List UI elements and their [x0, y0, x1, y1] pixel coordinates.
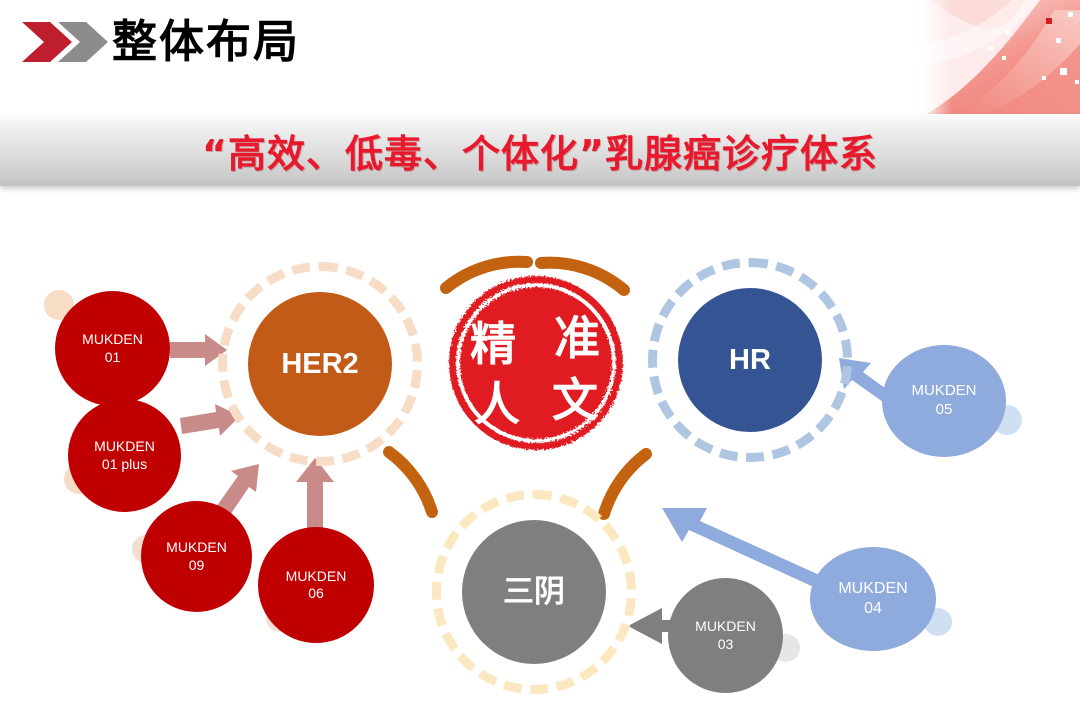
node-mukden-06-line2: 06 — [308, 585, 324, 603]
node-mukden-06-line1: MUKDEN — [286, 568, 347, 586]
slide-root: 整体布局 — [0, 0, 1080, 725]
arc-bottom-left — [389, 452, 432, 512]
node-mukden-01-line2: 01 — [105, 349, 121, 367]
node-mukden-01-plus[interactable]: MUKDEN 01 plus — [68, 399, 181, 512]
node-mukden-04-line1: MUKDEN — [838, 579, 907, 599]
arc-bottom-right — [604, 454, 646, 514]
hub-her2[interactable]: HER2 — [248, 292, 392, 436]
chevron-red-icon — [22, 22, 72, 62]
banner-title: “高效、低毒、个体化”乳腺癌诊疗体系 — [202, 123, 878, 178]
hub-triple-negative[interactable]: 三阴 — [462, 520, 606, 664]
slide-header: 整体布局 — [0, 0, 1080, 110]
node-mukden-04-line2: 04 — [864, 599, 882, 619]
node-mukden-03-line1: MUKDEN — [695, 618, 756, 636]
center-seal: 精 准 人 文 — [441, 268, 631, 458]
arrow-mukden06-to-her2 — [296, 458, 334, 530]
node-mukden-05[interactable]: MUKDEN 05 — [882, 345, 1006, 457]
node-mukden-05-line1: MUKDEN — [911, 382, 976, 401]
diagram-canvas: HER2 HR 三阴 精 准 — [0, 190, 1080, 725]
seal-text-line1b: 准 — [554, 311, 600, 365]
rose-swirl-decoration — [920, 0, 1080, 118]
banner-bar: “高效、低毒、个体化”乳腺癌诊疗体系 — [0, 114, 1080, 186]
seal-text-line2: 人 — [474, 377, 520, 431]
chevron-logo — [20, 20, 110, 64]
node-mukden-01[interactable]: MUKDEN 01 — [55, 291, 170, 406]
hub-hr[interactable]: HR — [678, 288, 822, 432]
node-mukden-04[interactable]: MUKDEN 04 — [810, 547, 936, 651]
node-mukden-01-line1: MUKDEN — [82, 331, 143, 349]
hub-her2-label: HER2 — [281, 346, 358, 382]
arrow-mukden04-to-hr — [662, 508, 826, 589]
node-mukden-09[interactable]: MUKDEN 09 — [141, 501, 252, 612]
node-mukden-03[interactable]: MUKDEN 03 — [668, 578, 783, 693]
hub-hr-label: HR — [729, 342, 771, 378]
node-mukden-05-line2: 05 — [936, 401, 953, 420]
node-mukden-01-plus-line1: MUKDEN — [94, 438, 155, 456]
seal-text-line1: 精 — [470, 317, 516, 371]
node-mukden-09-line2: 09 — [189, 557, 205, 575]
seal-text-line2b: 文 — [552, 373, 598, 427]
hub-triple-negative-label: 三阴 — [503, 573, 565, 612]
node-mukden-01-plus-line2: 01 plus — [102, 456, 147, 474]
node-mukden-06[interactable]: MUKDEN 06 — [258, 527, 374, 643]
page-title: 整体布局 — [112, 12, 300, 72]
node-mukden-09-line1: MUKDEN — [166, 539, 227, 557]
node-mukden-03-line2: 03 — [718, 636, 734, 654]
